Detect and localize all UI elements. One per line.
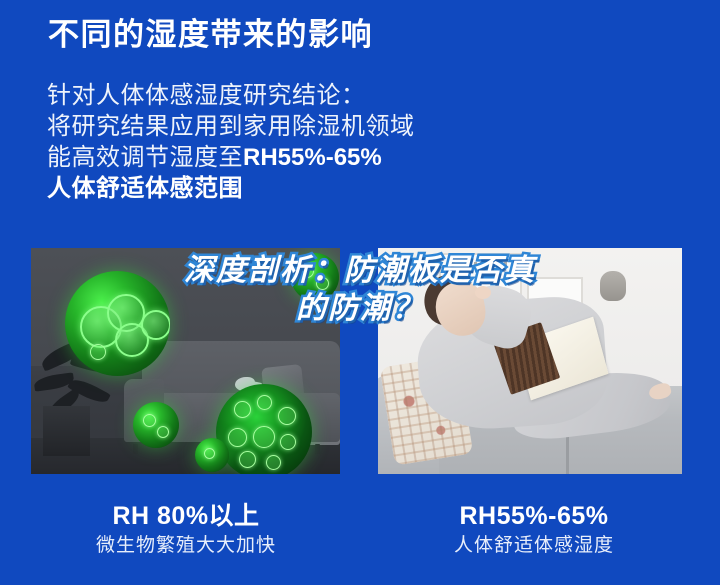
microbe-cluster-icon <box>291 253 339 301</box>
dark-room-plant-pot <box>43 406 89 456</box>
intro-line-1: 针对人体体感湿度研究结论： <box>47 80 415 111</box>
photo-row <box>0 248 720 476</box>
photo-left-microbes <box>31 248 340 474</box>
caption-comfort-humidity-title: RH55%-65% <box>364 500 704 532</box>
dark-room-scene <box>31 248 340 474</box>
microbe-cluster-icon <box>195 438 229 472</box>
dark-room-sofa-leg <box>315 444 320 454</box>
microbe-cluster-icon <box>216 384 312 474</box>
intro-line-3: 能高效调节湿度至RH55%-65% <box>47 142 415 173</box>
caption-comfort-humidity-subtitle: 人体舒适体感湿度 <box>364 532 704 560</box>
poster-root: 不同的湿度带来的影响 针对人体体感湿度研究结论： 将研究结果应用到家用除湿机领域… <box>0 0 720 585</box>
light-room-scene <box>378 248 682 474</box>
intro-line-3-prefix: 能高效调节湿度至 <box>47 144 243 171</box>
caption-high-humidity-title: RH 80%以上 <box>16 500 356 532</box>
photo-right-comfort <box>378 248 682 474</box>
microbe-cluster-icon <box>133 402 179 448</box>
caption-high-humidity: RH 80%以上 微生物繁殖大大加快 <box>16 500 356 560</box>
microbe-cluster-icon <box>65 271 170 376</box>
intro-line-2: 将研究结果应用到家用除湿机领域 <box>47 111 415 142</box>
caption-comfort-humidity: RH55%-65% 人体舒适体感湿度 <box>364 500 704 560</box>
dark-room-sofa-leg <box>133 444 138 454</box>
page-title: 不同的湿度带来的影响 <box>48 16 373 55</box>
intro-line-3-emphasis: RH55%-65% <box>243 144 382 171</box>
light-room-wall-speaker <box>600 271 626 301</box>
caption-high-humidity-subtitle: 微生物繁殖大大加快 <box>16 532 356 560</box>
caption-row: RH 80%以上 微生物繁殖大大加快 RH55%-65% 人体舒适体感湿度 <box>0 500 720 585</box>
intro-line-4: 人体舒适体感范围 <box>47 173 415 204</box>
intro-paragraph: 针对人体体感湿度研究结论： 将研究结果应用到家用除湿机领域 能高效调节湿度至RH… <box>47 80 415 204</box>
